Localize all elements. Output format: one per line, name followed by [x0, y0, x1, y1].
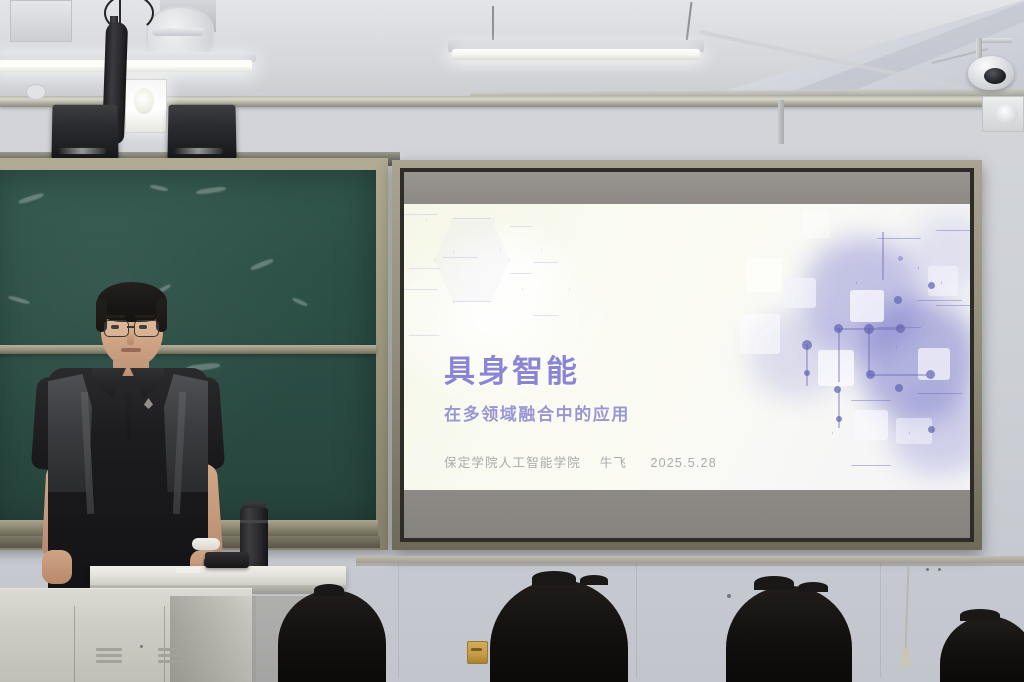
network-square [740, 314, 780, 354]
slide-byline: 保定学院人工智能学院 牛飞 2025.5.28 [444, 452, 717, 471]
podium-door-seam [74, 606, 75, 682]
network-link [806, 344, 808, 386]
podium-shadow [170, 596, 256, 682]
presenter-hand [42, 550, 72, 584]
fluorescent-tube-light [452, 49, 700, 60]
network-square [802, 210, 830, 238]
podium-keyhole [140, 645, 143, 648]
network-link [882, 232, 884, 280]
eyebrow [105, 315, 125, 318]
podium-vent-slat [96, 648, 122, 651]
network-node [898, 256, 903, 261]
hair-tuft [798, 582, 828, 592]
presentation-slide: 具身智能 在多领域融合中的应用 保定学院人工智能学院 牛飞 2025.5.28 [404, 204, 970, 490]
podium-vent-slat [158, 648, 184, 651]
light-bulb [134, 88, 154, 114]
hair-tuft [960, 609, 1000, 621]
wall-power-outlet [467, 641, 488, 664]
network-node [896, 324, 905, 333]
hair-tuft [754, 576, 794, 590]
hair-tuft [532, 571, 576, 585]
thermos-ring [240, 520, 268, 523]
duct-band [152, 28, 204, 36]
network-node [894, 296, 902, 304]
network-node [864, 324, 874, 334]
wall-seam [636, 560, 637, 678]
glasses-icon [104, 320, 129, 337]
wall-line [356, 563, 1024, 566]
glasses-icon [134, 320, 159, 337]
network-node [928, 282, 935, 289]
network-square [746, 258, 782, 292]
wall-plate [10, 0, 72, 42]
podium-door-seam [164, 606, 165, 682]
wristband [192, 538, 220, 550]
ceiling-speaker [167, 105, 236, 158]
camera-mount-arm [978, 38, 1012, 43]
network-node [866, 370, 875, 379]
wall-speck [938, 568, 941, 571]
cord-tag [901, 648, 910, 668]
wall-device-knob [996, 104, 1018, 124]
slide-title: 具身智能 [444, 346, 580, 391]
projection-screen: 具身智能 在多领域融合中的应用 保定学院人工智能学院 牛飞 2025.5.28 [404, 172, 970, 538]
podium-paper [176, 568, 200, 573]
network-link [868, 374, 926, 376]
hair-tuft [314, 584, 344, 596]
glasses-bridge [127, 326, 135, 328]
network-link [838, 390, 840, 428]
wall-seam [880, 560, 881, 678]
network-node [895, 384, 903, 392]
vertical-conduit [778, 100, 784, 144]
slide-subtitle: 在多领域融合中的应用 [444, 400, 630, 425]
network-link [868, 328, 870, 376]
network-node [804, 370, 810, 376]
classroom-screenshot: 具身智能 在多领域融合中的应用 保定学院人工智能学院 牛飞 2025.5.28 [0, 0, 1024, 682]
network-node [836, 416, 842, 422]
nose [127, 332, 134, 345]
speaker-highlight [174, 148, 224, 154]
outlet-slot [471, 648, 482, 651]
network-node [834, 324, 843, 333]
network-square [818, 350, 854, 386]
light-hanger [492, 6, 494, 42]
wall-seam [398, 560, 399, 678]
camera-lens [984, 68, 1006, 84]
network-node [928, 426, 935, 433]
wall-speck [926, 568, 929, 571]
network-square [784, 278, 816, 308]
wall-hook [26, 84, 46, 100]
network-node [926, 370, 935, 379]
eyebrow [135, 315, 155, 318]
podium-vent-slat [96, 660, 122, 663]
standing-presenter [18, 282, 243, 594]
podium-vent-slat [158, 660, 184, 663]
wall-speck [727, 594, 731, 598]
hair-tuft [580, 575, 608, 585]
network-node [834, 386, 841, 393]
network-node [802, 340, 812, 350]
speaker-highlight [58, 148, 106, 154]
podium-vent-slat [158, 654, 184, 657]
screen-unprojected-top [404, 172, 970, 204]
podium-vent-slat [96, 654, 122, 657]
network-link [838, 328, 840, 382]
desk-remote-control[interactable] [205, 552, 249, 568]
network-graphic [740, 204, 970, 490]
mouth [121, 348, 141, 352]
wall-baseboard [356, 556, 1024, 563]
ceiling-speaker [51, 105, 118, 158]
screen-unprojected-bottom [404, 490, 970, 538]
